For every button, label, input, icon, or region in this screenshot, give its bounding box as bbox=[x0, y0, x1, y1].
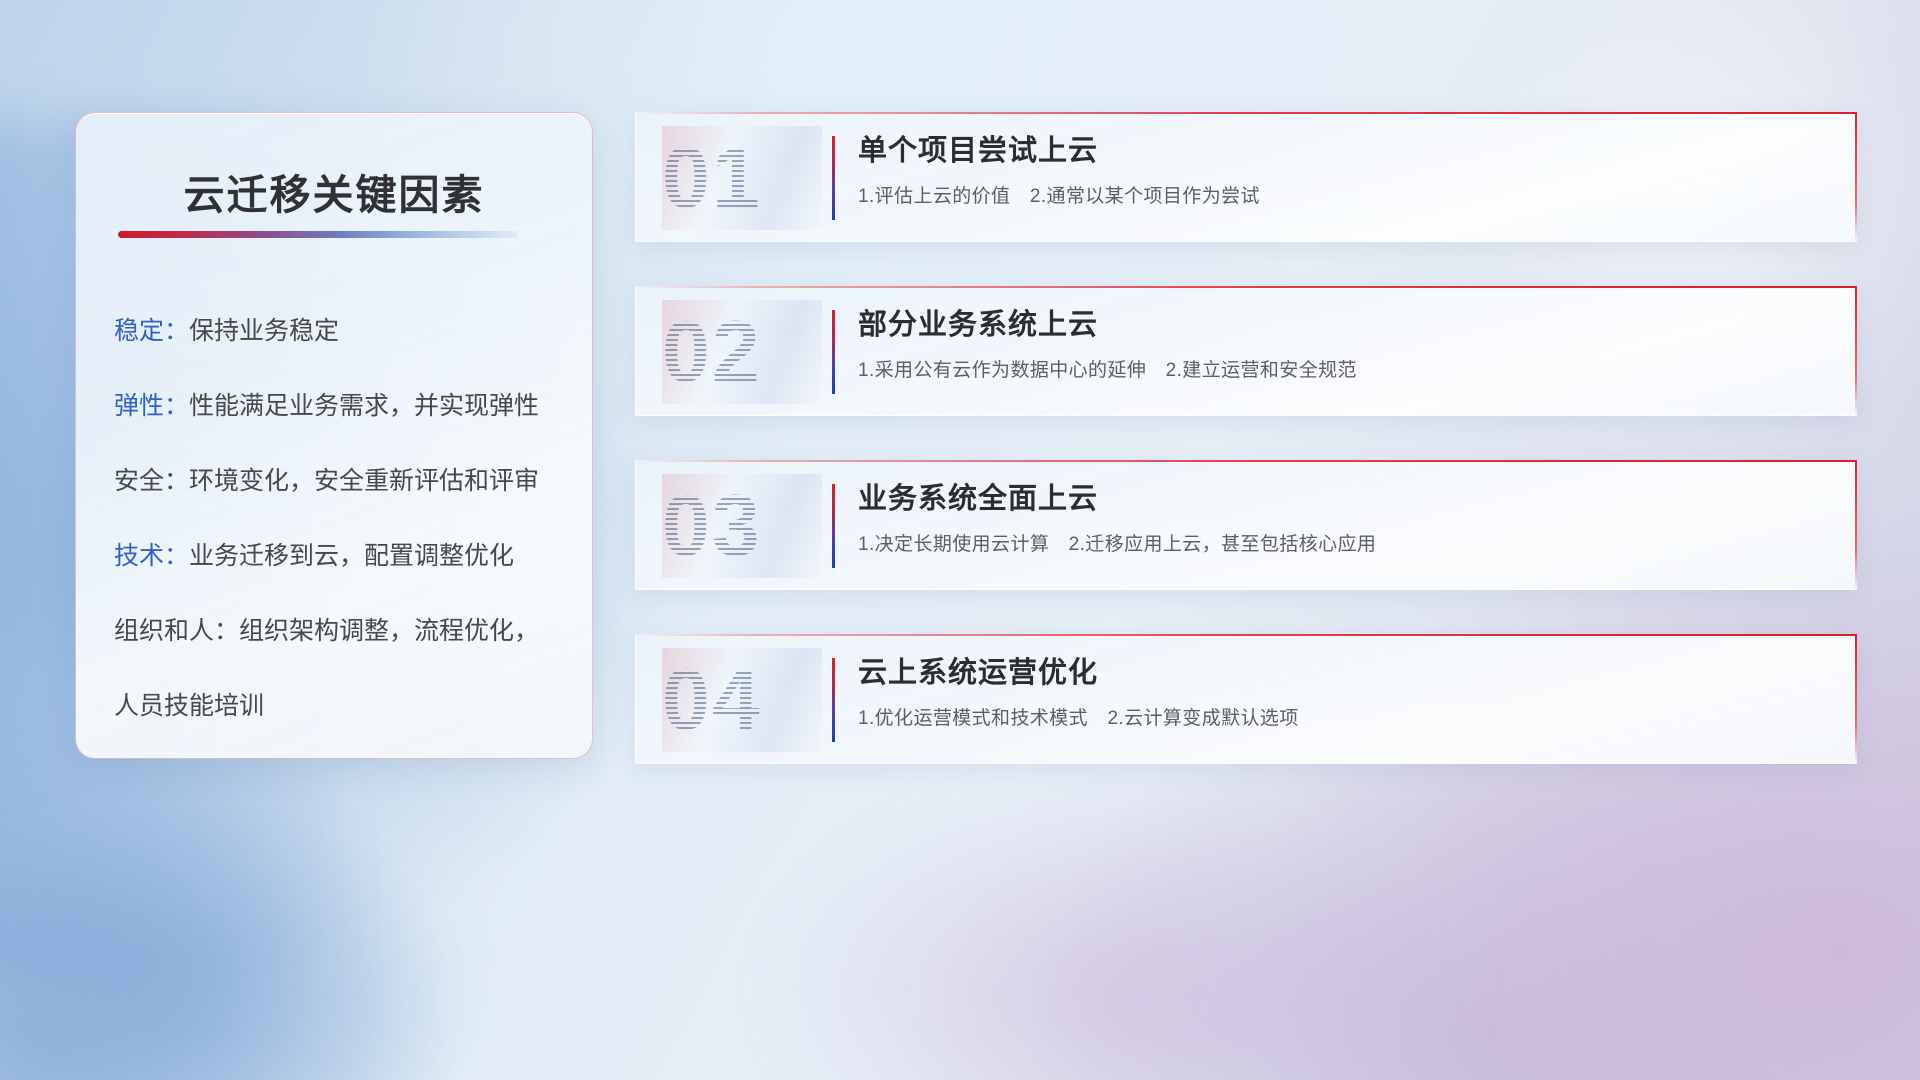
factor-text: 环境变化，安全重新评估和评审 bbox=[189, 467, 539, 495]
background-glow-bottom-left bbox=[0, 800, 480, 1080]
list-item: 稳定：保持业务稳定 bbox=[114, 313, 568, 349]
list-item: 组织和人：组织架构调整，流程优化， bbox=[114, 613, 568, 649]
title-underline-rule bbox=[118, 231, 518, 238]
card-body: 部分业务系统上云 1.采用公有云作为数据中心的延伸 2.建立运营和安全规范 bbox=[858, 304, 1817, 386]
factor-text: 保持业务稳定 bbox=[189, 317, 339, 345]
card-body: 业务系统全面上云 1.决定长期使用云计算 2.迁移应用上云，甚至包括核心应用 bbox=[858, 478, 1817, 560]
card-top-accent-line bbox=[636, 286, 1857, 288]
card-divider-line bbox=[832, 310, 835, 394]
page-title: 云迁移关键因素 bbox=[76, 161, 592, 221]
card-description: 1.优化运营模式和技术模式 2.云计算变成默认选项 bbox=[858, 704, 1817, 734]
card-divider-line bbox=[832, 136, 835, 220]
stage-number-text: 03 bbox=[662, 478, 762, 574]
factor-text: 组织架构调整，流程优化， bbox=[239, 617, 539, 645]
card-divider-line bbox=[832, 484, 835, 568]
card-title: 单个项目尝试上云 bbox=[858, 130, 1817, 172]
factor-text: 性能满足业务需求，并实现弹性 bbox=[189, 392, 539, 420]
stage-number: 03 bbox=[662, 474, 822, 578]
list-item-continuation: 人员技能培训 bbox=[114, 688, 568, 724]
stage-number-text: 01 bbox=[662, 130, 762, 226]
stage-card[interactable]: 03 业务系统全面上云 1.决定长期使用云计算 2.迁移应用上云，甚至包括核心应… bbox=[635, 460, 1857, 590]
card-right-accent-line bbox=[1855, 460, 1857, 590]
card-body: 单个项目尝试上云 1.评估上云的价值 2.通常以某个项目作为尝试 bbox=[858, 130, 1817, 212]
stage-number: 01 bbox=[662, 126, 822, 230]
list-item: 弹性：性能满足业务需求，并实现弹性 bbox=[114, 388, 568, 424]
list-item: 技术：业务迁移到云，配置调整优化 bbox=[114, 538, 568, 574]
stage-number-text: 02 bbox=[662, 304, 762, 400]
factor-text-continuation: 人员技能培训 bbox=[114, 692, 264, 720]
card-top-accent-line bbox=[636, 112, 1857, 114]
card-title: 云上系统运营优化 bbox=[858, 652, 1817, 694]
card-description: 1.采用公有云作为数据中心的延伸 2.建立运营和安全规范 bbox=[858, 356, 1817, 386]
factor-text: 业务迁移到云，配置调整优化 bbox=[189, 542, 514, 570]
card-title: 业务系统全面上云 bbox=[858, 478, 1817, 520]
card-top-accent-line bbox=[636, 460, 1857, 462]
stage-card[interactable]: 01 单个项目尝试上云 1.评估上云的价值 2.通常以某个项目作为尝试 bbox=[635, 112, 1857, 242]
card-title: 部分业务系统上云 bbox=[858, 304, 1817, 346]
stage-card-list: 01 单个项目尝试上云 1.评估上云的价值 2.通常以某个项目作为尝试 02 部… bbox=[635, 112, 1857, 764]
factor-label: 技术： bbox=[114, 542, 189, 570]
factor-label: 稳定： bbox=[114, 317, 189, 345]
key-factors-panel: 云迁移关键因素 稳定：保持业务稳定 弹性：性能满足业务需求，并实现弹性 安全：环… bbox=[75, 112, 593, 759]
card-body: 云上系统运营优化 1.优化运营模式和技术模式 2.云计算变成默认选项 bbox=[858, 652, 1817, 734]
card-description: 1.决定长期使用云计算 2.迁移应用上云，甚至包括核心应用 bbox=[858, 530, 1817, 560]
card-right-accent-line bbox=[1855, 634, 1857, 764]
factor-label: 安全： bbox=[114, 467, 189, 495]
stage-number: 04 bbox=[662, 648, 822, 752]
slide-canvas: 云迁移关键因素 稳定：保持业务稳定 弹性：性能满足业务需求，并实现弹性 安全：环… bbox=[0, 0, 1920, 1080]
stage-card[interactable]: 04 云上系统运营优化 1.优化运营模式和技术模式 2.云计算变成默认选项 bbox=[635, 634, 1857, 764]
card-right-accent-line bbox=[1855, 112, 1857, 242]
card-top-accent-line bbox=[636, 634, 1857, 636]
factor-label: 弹性： bbox=[114, 392, 189, 420]
stage-number-text: 04 bbox=[662, 652, 762, 748]
card-divider-line bbox=[832, 658, 835, 742]
card-right-accent-line bbox=[1855, 286, 1857, 416]
factor-label: 组织和人： bbox=[114, 617, 239, 645]
list-item: 安全：环境变化，安全重新评估和评审 bbox=[114, 463, 568, 499]
stage-card[interactable]: 02 部分业务系统上云 1.采用公有云作为数据中心的延伸 2.建立运营和安全规范 bbox=[635, 286, 1857, 416]
factor-list: 稳定：保持业务稳定 弹性：性能满足业务需求，并实现弹性 安全：环境变化，安全重新… bbox=[114, 313, 568, 724]
stage-number: 02 bbox=[662, 300, 822, 404]
background-glow-bottom bbox=[760, 780, 1480, 1080]
card-description: 1.评估上云的价值 2.通常以某个项目作为尝试 bbox=[858, 182, 1817, 212]
